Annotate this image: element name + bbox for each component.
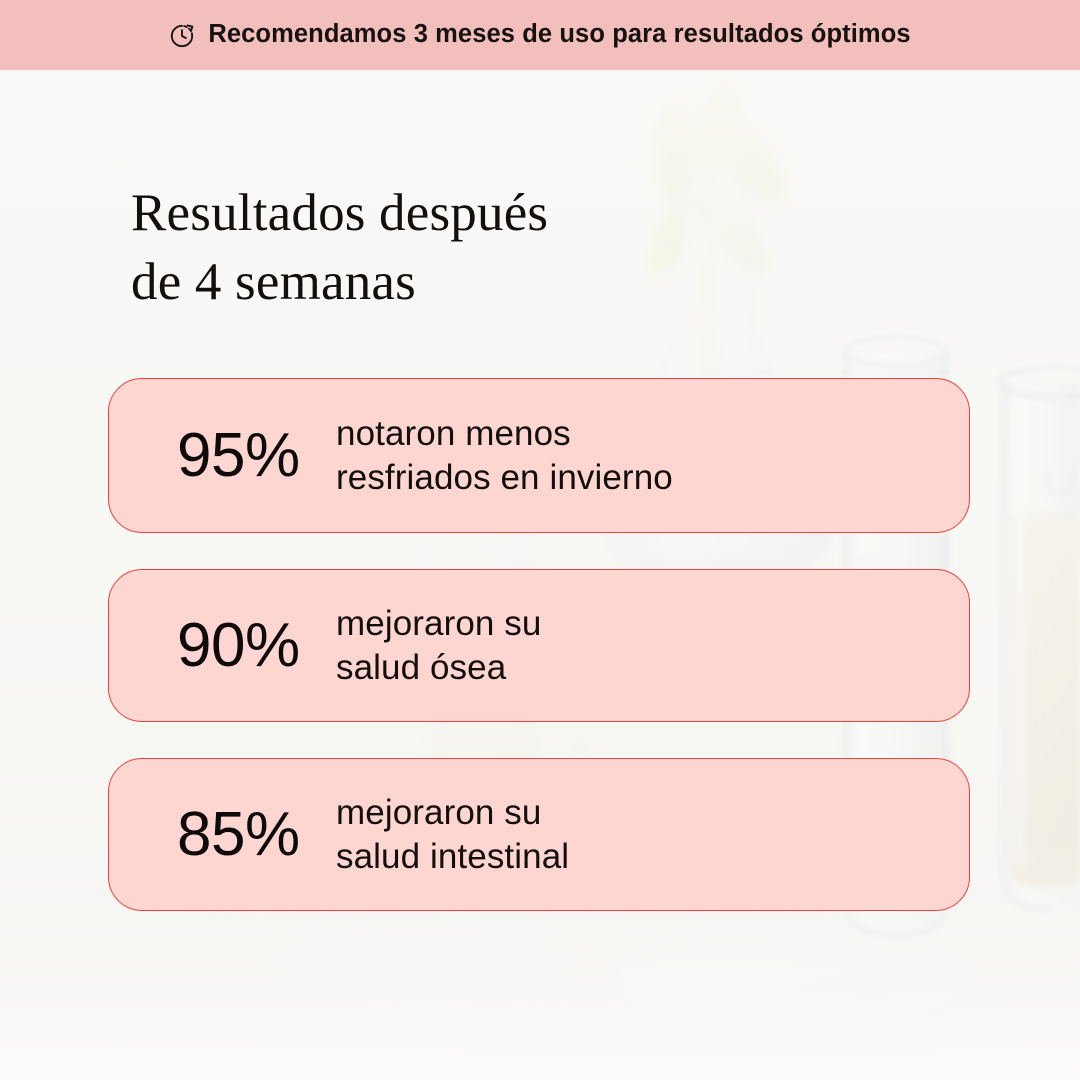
stat-value-95: 95% <box>109 425 336 487</box>
stat-label-gut-health-line-1: mejoraron su <box>336 791 969 835</box>
page-title: Resultados después de 4 semanas <box>131 179 771 319</box>
stat-label-bone-health-line-1: mejoraron su <box>336 602 969 646</box>
stat-label-colds: notaron menos resfriados en invierno <box>336 412 969 500</box>
banner-text: Recomendamos 3 meses de uso para resulta… <box>208 22 910 48</box>
stat-label-colds-line-2: resfriados en invierno <box>336 456 969 500</box>
stat-label-colds-line-1: notaron menos <box>336 412 969 456</box>
stat-label-bone-health: mejoraron su salud ósea <box>336 602 969 690</box>
top-recommendation-banner: Recomendamos 3 meses de uso para resulta… <box>0 0 1080 70</box>
page-title-line-1: Resultados después <box>131 179 771 249</box>
stat-card-list: 95% notaron menos resfriados en invierno… <box>108 378 970 911</box>
stat-card-bone-health: 90% mejoraron su salud ósea <box>108 569 970 722</box>
stat-value-85: 85% <box>109 804 336 866</box>
stat-label-gut-health-line-2: salud intestinal <box>336 835 969 879</box>
stat-value-90: 90% <box>109 615 336 677</box>
clock-history-icon <box>169 23 195 49</box>
stat-card-gut-health: 85% mejoraron su salud intestinal <box>108 758 970 911</box>
page-title-line-2: de 4 semanas <box>131 248 771 318</box>
poster-canvas: 40 40 <box>0 0 1080 1080</box>
stat-card-colds: 95% notaron menos resfriados en invierno <box>108 378 970 533</box>
stat-label-gut-health: mejoraron su salud intestinal <box>336 791 969 879</box>
stat-label-bone-health-line-2: salud ósea <box>336 646 969 690</box>
